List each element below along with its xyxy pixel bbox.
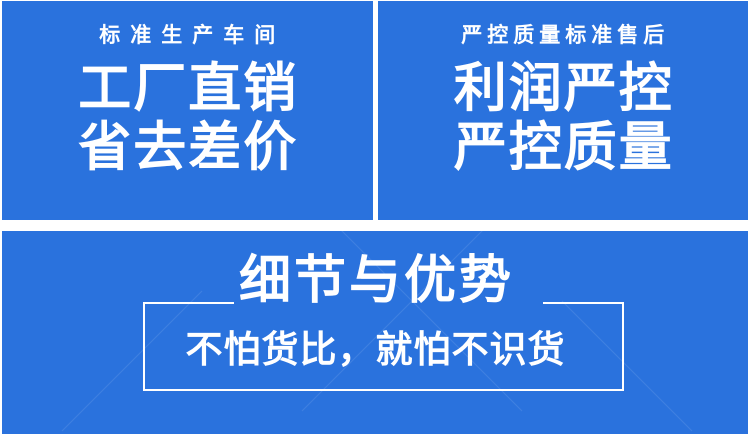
panel-kicker-factory-direct: 标准生产车间: [89, 25, 285, 46]
panel-quality-control: 严控质量标准售后 利润严控 严控质量: [378, 1, 749, 220]
banner-subtitle: 不怕货比，就怕不识货: [2, 331, 748, 368]
panel-headline-line2-quality-control: 严控质量: [452, 119, 674, 176]
panel-factory-direct: 标准生产车间 工厂直销 省去差价: [2, 1, 373, 220]
panel-headline-line1-quality-control: 利润严控: [452, 60, 674, 117]
details-advantages-banner: 细节与优势 不怕货比，就怕不识货: [2, 231, 748, 434]
panel-headline-line1-factory-direct: 工厂直销: [76, 60, 298, 117]
promo-banner-canvas: 标准生产车间 工厂直销 省去差价 严控质量标准售后 利润严控 严控质量 细节与优…: [0, 0, 750, 440]
top-panel-row: 标准生产车间 工厂直销 省去差价 严控质量标准售后 利润严控 严控质量: [2, 1, 748, 220]
banner-title: 细节与优势: [2, 255, 748, 307]
panel-headline-line2-factory-direct: 省去差价: [76, 119, 298, 176]
panel-kicker-quality-control: 严控质量标准售后: [456, 25, 669, 46]
